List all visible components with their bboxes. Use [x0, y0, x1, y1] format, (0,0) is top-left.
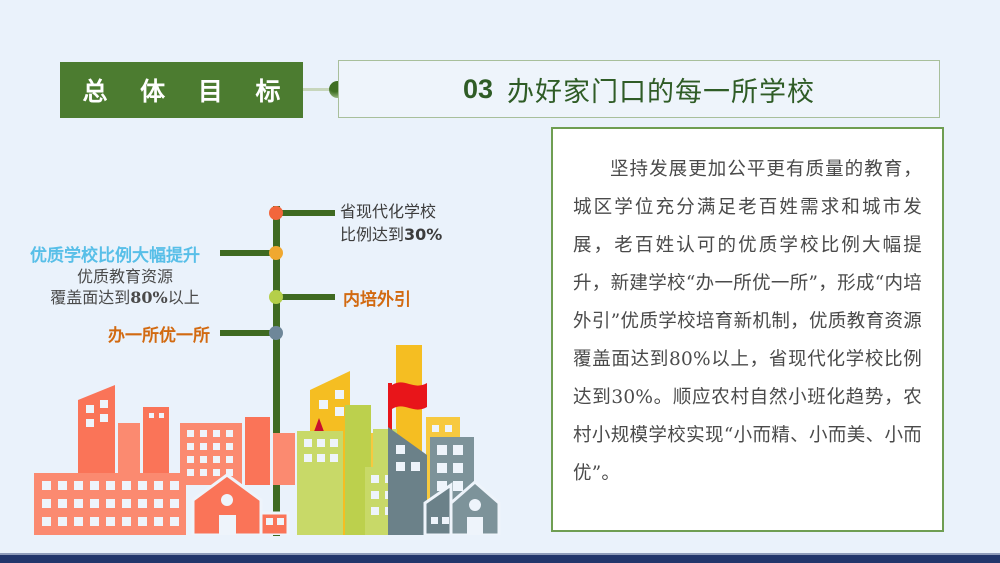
node-label-1-line1: 省现代化学校	[340, 200, 442, 223]
window	[86, 419, 94, 427]
node-label-1-prefix: 比例达到	[340, 225, 404, 244]
house-slate-wing	[425, 485, 451, 535]
window	[159, 413, 164, 418]
subnote-suffix: 以上	[168, 288, 200, 307]
window	[442, 517, 449, 524]
window	[100, 400, 108, 408]
branch-line-4	[220, 330, 275, 336]
window-grid-base	[42, 481, 179, 526]
node-label-1: 省现代化学校 比例达到30%	[340, 200, 442, 246]
building-slate-slanted	[388, 427, 427, 535]
window	[266, 518, 273, 525]
description-paragraph: 坚持发展更加公平更有质量的教育，城区学位充分满足老百姓需求和城市发展，老百姓认可…	[573, 151, 922, 493]
footer-bar	[0, 555, 1000, 563]
slide-canvas: 总 体 目 标 03 办好家门口的每一所学校 坚持发展更加公平更有质量的教育，城…	[0, 0, 1000, 563]
section-tag-badge: 总 体 目 标	[60, 62, 303, 118]
subnote-line1: 优质教育资源	[30, 266, 220, 287]
node-label-1-value: 30%	[404, 225, 442, 244]
window	[149, 413, 154, 418]
subnote-line2: 覆盖面达到80%以上	[30, 287, 220, 308]
description-card: 坚持发展更加公平更有质量的教育，城区学位充分满足老百姓需求和城市发展，老百姓认可…	[551, 127, 944, 532]
node-label-1-line2: 比例达到30%	[340, 223, 442, 246]
subnote-prefix: 覆盖面达到	[50, 288, 130, 307]
section-tag-label: 总 体 目 标	[70, 72, 292, 108]
house-door	[467, 517, 483, 535]
node-dot-4	[269, 326, 283, 340]
red-flag-icon	[392, 382, 427, 409]
branch-line-1	[280, 210, 335, 216]
section-number: 03	[463, 74, 493, 105]
node-label-4: 办一所优一所	[108, 321, 210, 346]
slate-buildings-group	[388, 382, 499, 535]
node-label-3: 内培外引	[343, 285, 411, 310]
building-coral-slanted	[78, 385, 115, 485]
house-window-round	[469, 499, 481, 511]
window	[396, 462, 405, 471]
branch-line-2	[220, 250, 275, 256]
building-coral-right1	[245, 417, 270, 485]
node-label-2: 优质学校比例大幅提升	[30, 241, 200, 266]
branch-line-3	[280, 294, 335, 300]
house-window-round	[221, 494, 233, 506]
window	[396, 445, 405, 454]
window	[100, 414, 108, 422]
subnote-text: 优质教育资源 覆盖面达到80%以上	[30, 266, 220, 308]
node-dot-2	[269, 246, 283, 260]
house-door	[219, 515, 236, 535]
city-skyline-right	[275, 345, 535, 535]
lime-buildings-group	[297, 405, 399, 535]
page-title: 03 办好家门口的每一所学校	[338, 60, 940, 118]
flag-pole	[388, 383, 392, 431]
window	[431, 517, 438, 524]
coral-buildings-group	[34, 385, 295, 535]
node-dot-1	[269, 206, 283, 220]
window	[86, 405, 94, 413]
window	[411, 462, 420, 471]
subnote-value: 80%	[130, 288, 167, 307]
section-title-text: 办好家门口的每一所学校	[507, 70, 815, 109]
node-dot-3	[269, 290, 283, 304]
